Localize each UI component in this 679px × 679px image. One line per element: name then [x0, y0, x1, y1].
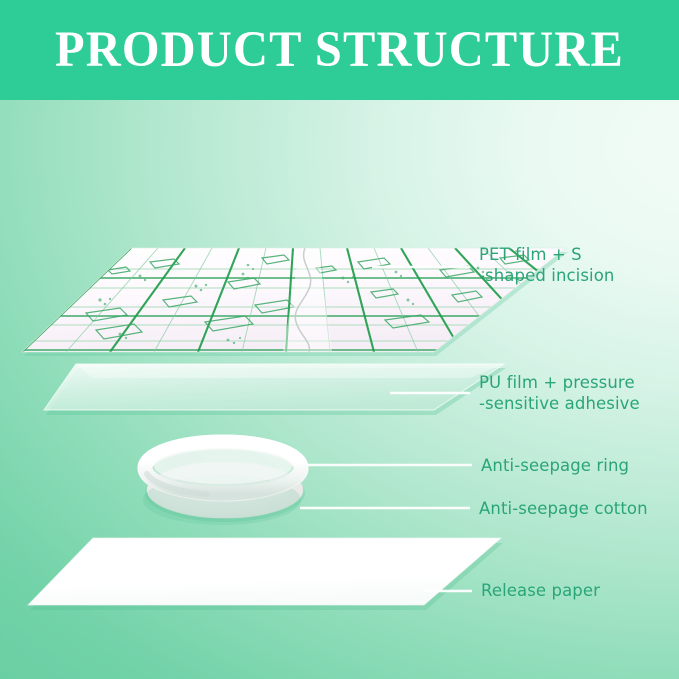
header-band: PRODUCT STRUCTURE: [0, 0, 679, 100]
layer-stack-illustration: [0, 0, 679, 679]
layer-anti-seepage-ring: [138, 435, 308, 525]
layer-pu-film: [44, 364, 506, 415]
label-anti-seepage-ring: Anti-seepage ring: [481, 455, 629, 476]
product-structure-infographic: PRODUCT STRUCTURE: [0, 0, 679, 679]
label-anti-seepage-cotton: Anti-seepage cotton: [479, 498, 648, 519]
label-pet-film: PET film + S -shaped incision: [479, 244, 615, 286]
page-title: PRODUCT STRUCTURE: [17, 21, 662, 79]
label-release-paper: Release paper: [481, 580, 600, 601]
layer-release-paper: [28, 538, 503, 610]
label-pu-film: PU film + pressure -sensitive adhesive: [479, 372, 640, 414]
